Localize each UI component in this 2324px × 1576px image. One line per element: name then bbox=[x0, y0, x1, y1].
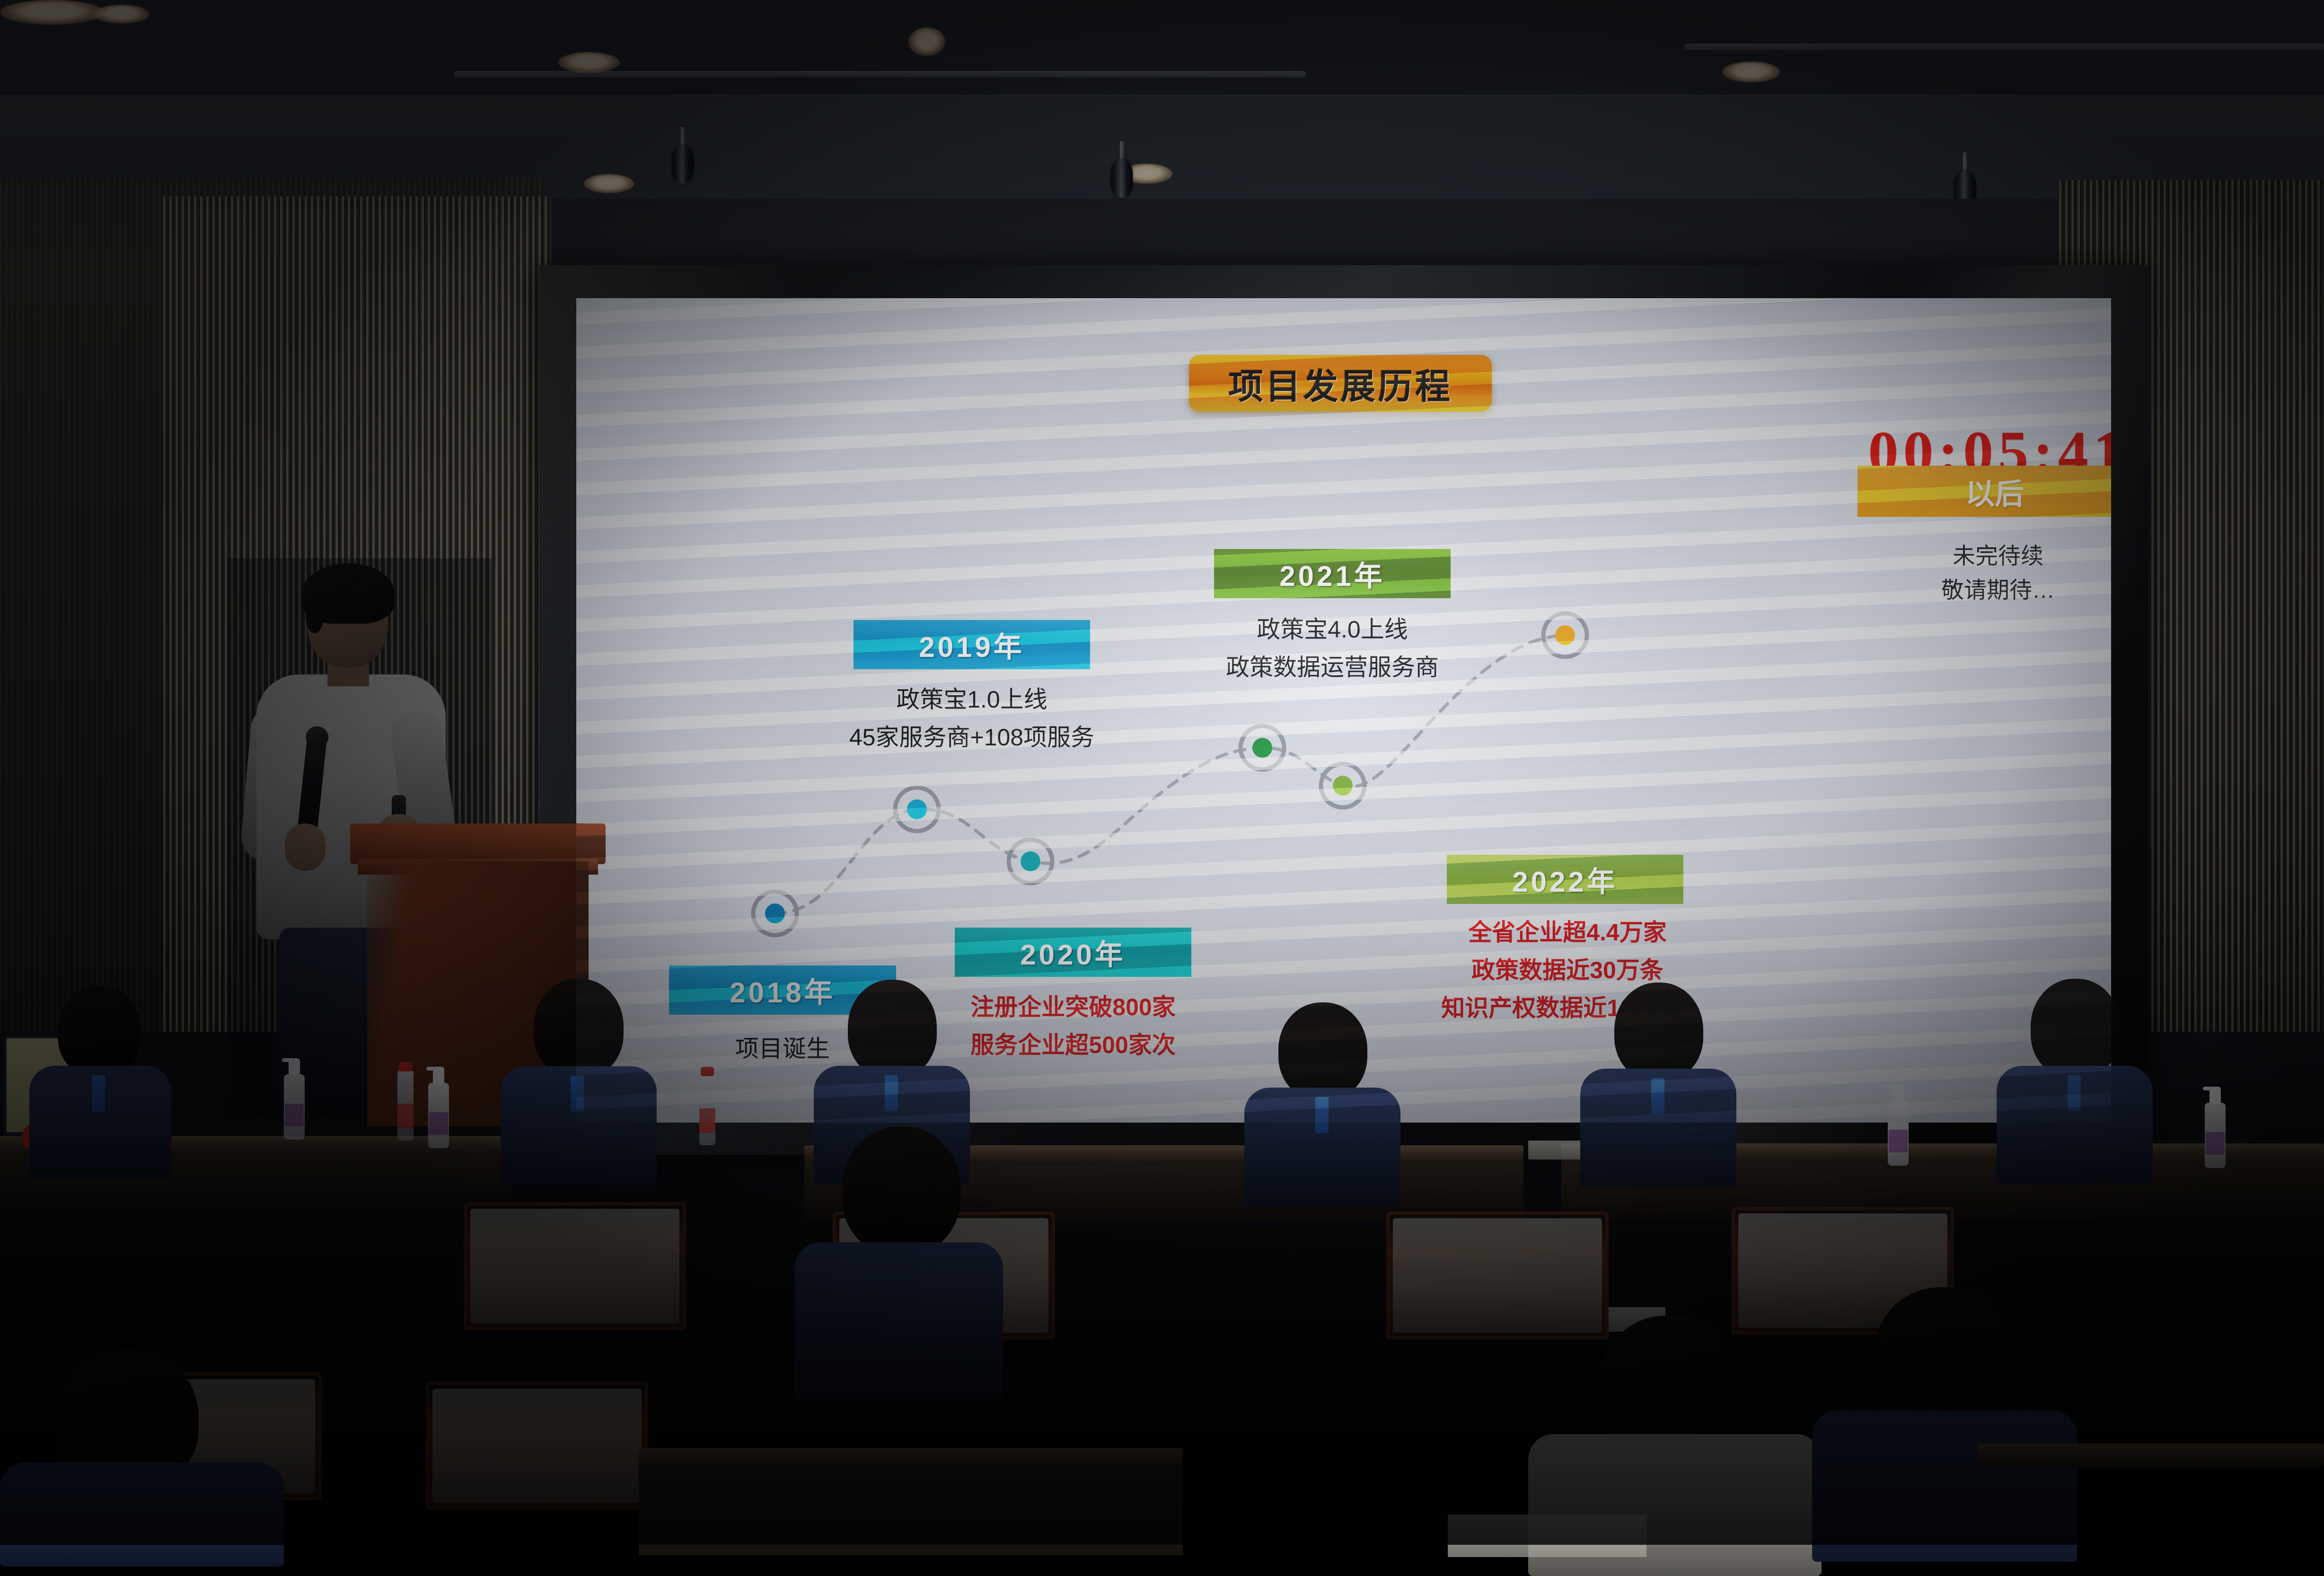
audience-torso bbox=[0, 1462, 284, 1567]
marker-2021 bbox=[1241, 726, 1284, 770]
ceiling-downlight bbox=[93, 5, 150, 24]
sanitizer-label bbox=[285, 1104, 304, 1126]
marker-2018 bbox=[753, 892, 797, 935]
presenter-hair bbox=[302, 563, 395, 624]
ceiling-downlight bbox=[558, 52, 620, 73]
marker-future bbox=[1543, 613, 1587, 657]
sanitizer-label bbox=[2206, 1132, 2225, 1155]
marker-2020 bbox=[1009, 840, 1052, 883]
audience-area: 2 bbox=[0, 956, 2324, 1545]
audience-torso bbox=[1812, 1410, 2077, 1562]
sanitizer-pump bbox=[2210, 1087, 2221, 1104]
bottle-label bbox=[397, 1104, 414, 1128]
audience-chair bbox=[426, 1382, 648, 1510]
lanyard bbox=[571, 1076, 584, 1112]
audience-member bbox=[501, 979, 657, 1168]
lanyard bbox=[1315, 1097, 1329, 1133]
hand-sanitizer bbox=[1888, 1100, 1909, 1166]
audience-head bbox=[1278, 1002, 1367, 1100]
audience-head bbox=[1614, 983, 1703, 1081]
track-spotlight bbox=[672, 127, 694, 184]
chair-back-pad bbox=[470, 1209, 679, 1323]
marker-2022 bbox=[1321, 764, 1364, 807]
ceiling-downlight bbox=[908, 27, 945, 56]
audience-head bbox=[2031, 979, 2121, 1078]
audience-head bbox=[534, 979, 624, 1078]
ceiling-downlight bbox=[584, 174, 634, 193]
audience-member-foreground bbox=[1812, 1287, 2077, 1552]
audience-torso bbox=[795, 1242, 1003, 1399]
audience-desk bbox=[1978, 1443, 2324, 1467]
hand-sanitizer bbox=[284, 1074, 305, 1140]
lanyard bbox=[92, 1075, 105, 1112]
paper-document bbox=[1448, 1514, 1646, 1557]
audience-head bbox=[848, 980, 937, 1078]
audience-head bbox=[842, 1126, 960, 1255]
bottle-label bbox=[699, 1108, 715, 1133]
audience-member bbox=[1997, 979, 2153, 1168]
conference-room: 项目发展历程 00:05:41 以后 未完待续 敬请期待… bbox=[0, 0, 2324, 1545]
sanitizer-pump bbox=[433, 1067, 444, 1084]
audience-head bbox=[58, 985, 141, 1078]
audience-member bbox=[1580, 983, 1736, 1172]
sanitizer-label bbox=[429, 1112, 448, 1135]
lanyard bbox=[1651, 1078, 1664, 1114]
hand-sanitizer bbox=[2205, 1103, 2226, 1168]
audience-member bbox=[29, 985, 171, 1165]
presenter-left-hand bbox=[285, 823, 326, 871]
chair-back-pad bbox=[432, 1389, 642, 1503]
audience-desk-front bbox=[639, 1470, 1183, 1555]
lanyard bbox=[885, 1075, 898, 1111]
hand-sanitizer bbox=[428, 1083, 449, 1148]
audience-head bbox=[1874, 1287, 2011, 1429]
audience-member-foreground bbox=[0, 1349, 284, 1552]
ceiling-downlight bbox=[0, 0, 104, 25]
audience-chair bbox=[464, 1202, 686, 1330]
audience-desk bbox=[639, 1448, 1183, 1472]
lanyard bbox=[2068, 1075, 2081, 1111]
bottle-cap bbox=[701, 1067, 714, 1076]
ceiling-downlight bbox=[1722, 62, 1780, 82]
bottle-cap bbox=[399, 1062, 412, 1071]
sanitizer-pump bbox=[1893, 1084, 1904, 1101]
audience-member-foreground bbox=[795, 1126, 1003, 1382]
track-spotlight bbox=[1111, 141, 1133, 198]
sanitizer-pump bbox=[289, 1058, 300, 1075]
light-track bbox=[1684, 44, 2324, 50]
water-bottle bbox=[397, 1070, 414, 1141]
audience-member bbox=[1244, 1002, 1400, 1192]
sanitizer-label bbox=[1889, 1130, 1908, 1152]
water-bottle bbox=[699, 1074, 715, 1145]
marker-2019 bbox=[895, 788, 939, 831]
